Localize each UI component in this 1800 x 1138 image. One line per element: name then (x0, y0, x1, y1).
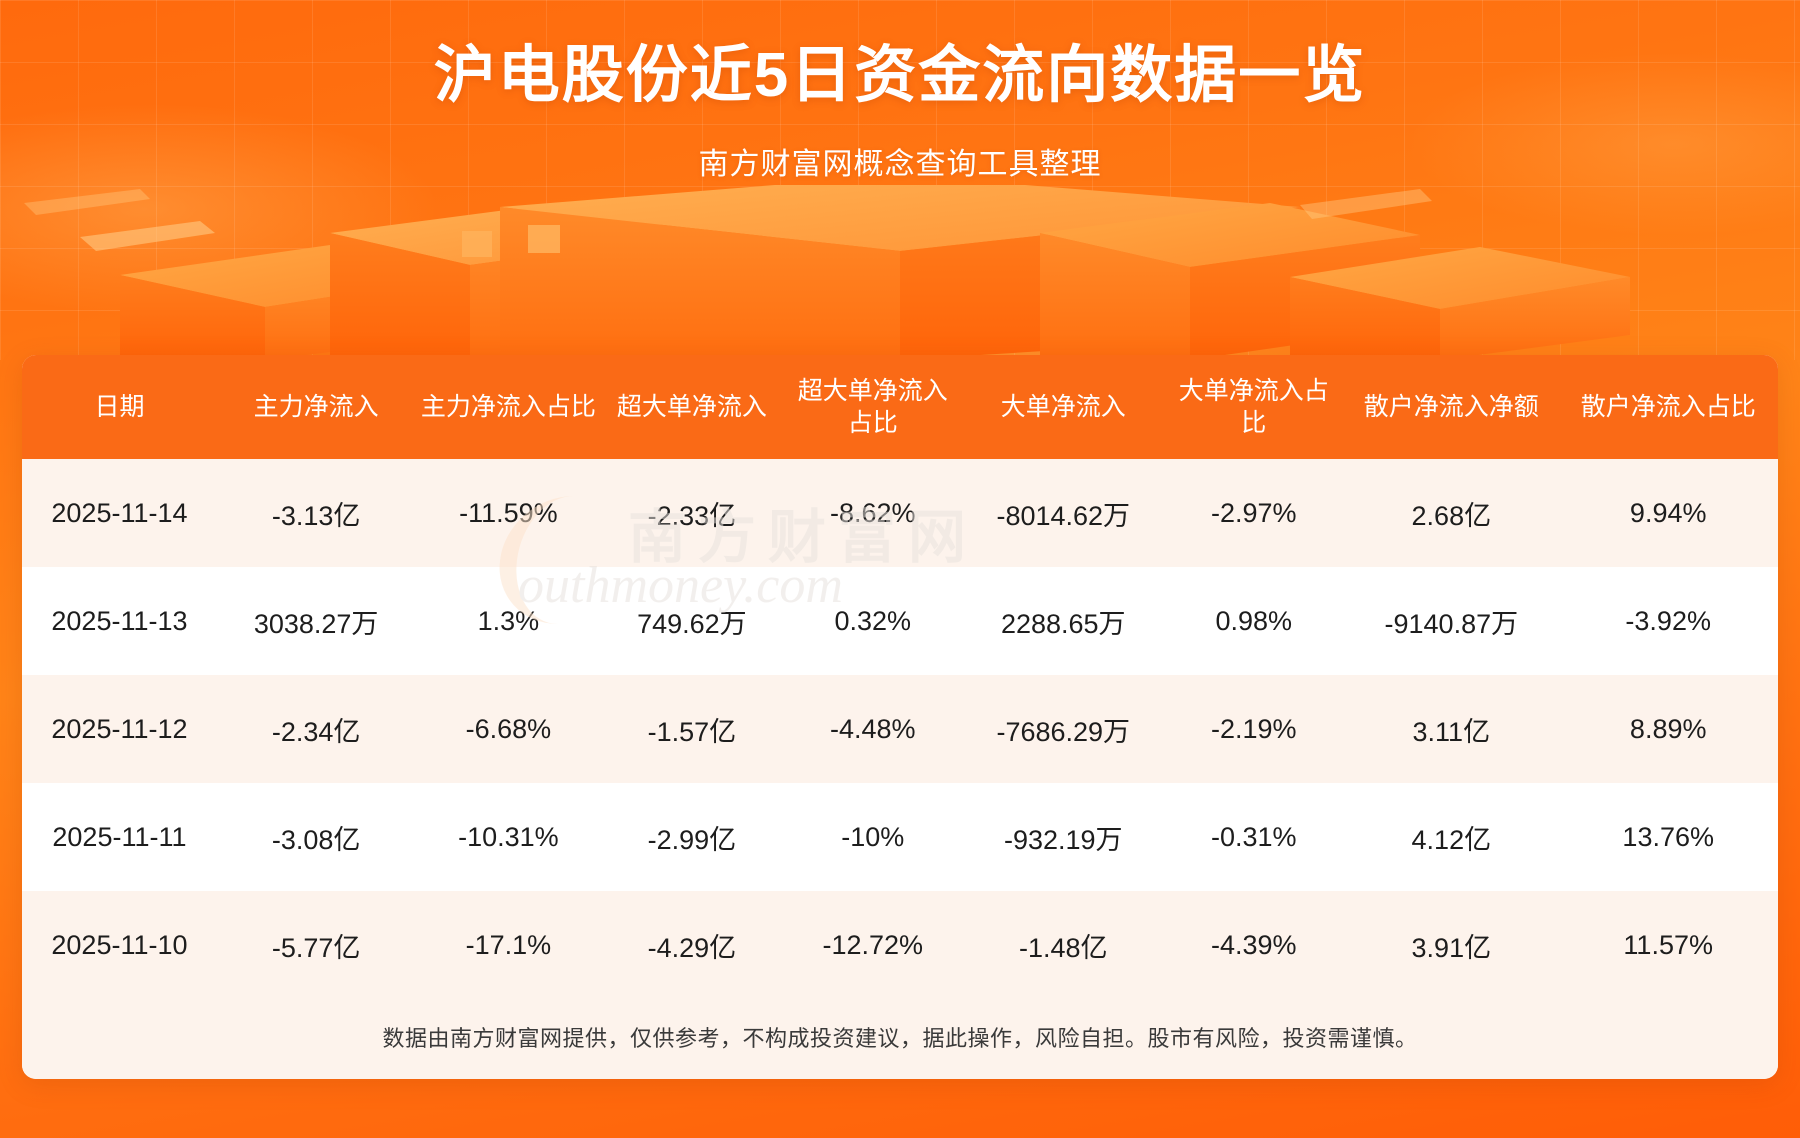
cell-main-pct: -11.59% (415, 459, 601, 567)
cell-xl-net: -1.57亿 (601, 675, 782, 783)
table-row: 2025-11-12 -2.34亿 -6.68% -1.57亿 -4.48% -… (22, 675, 1778, 783)
cell-main-net: -3.08亿 (217, 783, 415, 891)
data-table-card: 日期 主力净流入 主力净流入占比 超大单净流入 超大单净流入占比 大单净流入 大… (22, 355, 1778, 1079)
column-header-xl-pct: 超大单净流入占比 (782, 355, 963, 459)
cell-xl-pct: -8.62% (782, 459, 963, 567)
cell-retail-pct: 13.76% (1558, 783, 1778, 891)
cell-xl-pct: 0.32% (782, 567, 963, 675)
cell-retail-net: 3.11亿 (1344, 675, 1558, 783)
column-header-retail-pct: 散户净流入占比 (1558, 355, 1778, 459)
disclaimer-note: 数据由南方财富网提供，仅供参考，不构成投资建议，据此操作，风险自担。股市有风险，… (22, 999, 1778, 1079)
cell-retail-pct: 9.94% (1558, 459, 1778, 567)
cell-lg-pct: -4.39% (1163, 891, 1344, 999)
column-header-date: 日期 (22, 355, 217, 459)
column-header-lg-net: 大单净流入 (963, 355, 1163, 459)
cell-lg-net: 2288.65万 (963, 567, 1163, 675)
cell-xl-pct: -4.48% (782, 675, 963, 783)
cell-main-net: -2.34亿 (217, 675, 415, 783)
hero-header: 沪电股份近5日资金流向数据一览 南方财富网概念查询工具整理 (0, 0, 1800, 183)
page-title: 沪电股份近5日资金流向数据一览 (0, 40, 1800, 111)
cell-retail-pct: -3.92% (1558, 567, 1778, 675)
column-header-xl-net: 超大单净流入 (601, 355, 782, 459)
cell-lg-net: -7686.29万 (963, 675, 1163, 783)
cell-xl-net: -4.29亿 (601, 891, 782, 999)
cell-lg-pct: -0.31% (1163, 783, 1344, 891)
cell-lg-net: -8014.62万 (963, 459, 1163, 567)
cell-xl-net: -2.99亿 (601, 783, 782, 891)
cell-date: 2025-11-14 (22, 459, 217, 567)
cell-retail-net: -9140.87万 (1344, 567, 1558, 675)
podium-decoration (0, 185, 1800, 360)
cell-main-pct: -17.1% (415, 891, 601, 999)
table-row: 2025-11-10 -5.77亿 -17.1% -4.29亿 -12.72% … (22, 891, 1778, 999)
cell-retail-pct: 8.89% (1558, 675, 1778, 783)
cell-lg-pct: -2.19% (1163, 675, 1344, 783)
fund-flow-table: 日期 主力净流入 主力净流入占比 超大单净流入 超大单净流入占比 大单净流入 大… (22, 355, 1778, 999)
table-row: 2025-11-11 -3.08亿 -10.31% -2.99亿 -10% -9… (22, 783, 1778, 891)
cell-date: 2025-11-10 (22, 891, 217, 999)
table-row: 2025-11-13 3038.27万 1.3% 749.62万 0.32% 2… (22, 567, 1778, 675)
cell-xl-pct: -12.72% (782, 891, 963, 999)
table-row: 2025-11-14 -3.13亿 -11.59% -2.33亿 -8.62% … (22, 459, 1778, 567)
cell-xl-net: -2.33亿 (601, 459, 782, 567)
podium-svg (0, 185, 1800, 360)
cell-xl-pct: -10% (782, 783, 963, 891)
cell-date: 2025-11-12 (22, 675, 217, 783)
column-header-main-net: 主力净流入 (217, 355, 415, 459)
cell-date: 2025-11-11 (22, 783, 217, 891)
cell-lg-pct: -2.97% (1163, 459, 1344, 567)
cell-main-net: -3.13亿 (217, 459, 415, 567)
cell-main-net: -5.77亿 (217, 891, 415, 999)
cell-lg-net: -932.19万 (963, 783, 1163, 891)
column-header-main-pct: 主力净流入占比 (415, 355, 601, 459)
cell-main-pct: -10.31% (415, 783, 601, 891)
cell-date: 2025-11-13 (22, 567, 217, 675)
cell-retail-net: 4.12亿 (1344, 783, 1558, 891)
column-header-lg-pct: 大单净流入占比 (1163, 355, 1344, 459)
cell-retail-net: 2.68亿 (1344, 459, 1558, 567)
cell-main-net: 3038.27万 (217, 567, 415, 675)
cell-lg-pct: 0.98% (1163, 567, 1344, 675)
cell-main-pct: -6.68% (415, 675, 601, 783)
table-body: 2025-11-14 -3.13亿 -11.59% -2.33亿 -8.62% … (22, 459, 1778, 999)
table-header-row: 日期 主力净流入 主力净流入占比 超大单净流入 超大单净流入占比 大单净流入 大… (22, 355, 1778, 459)
cell-retail-net: 3.91亿 (1344, 891, 1558, 999)
cell-xl-net: 749.62万 (601, 567, 782, 675)
column-header-retail-net: 散户净流入净额 (1344, 355, 1558, 459)
cell-lg-net: -1.48亿 (963, 891, 1163, 999)
cell-main-pct: 1.3% (415, 567, 601, 675)
cell-retail-pct: 11.57% (1558, 891, 1778, 999)
page-subtitle: 南方财富网概念查询工具整理 (0, 139, 1800, 183)
